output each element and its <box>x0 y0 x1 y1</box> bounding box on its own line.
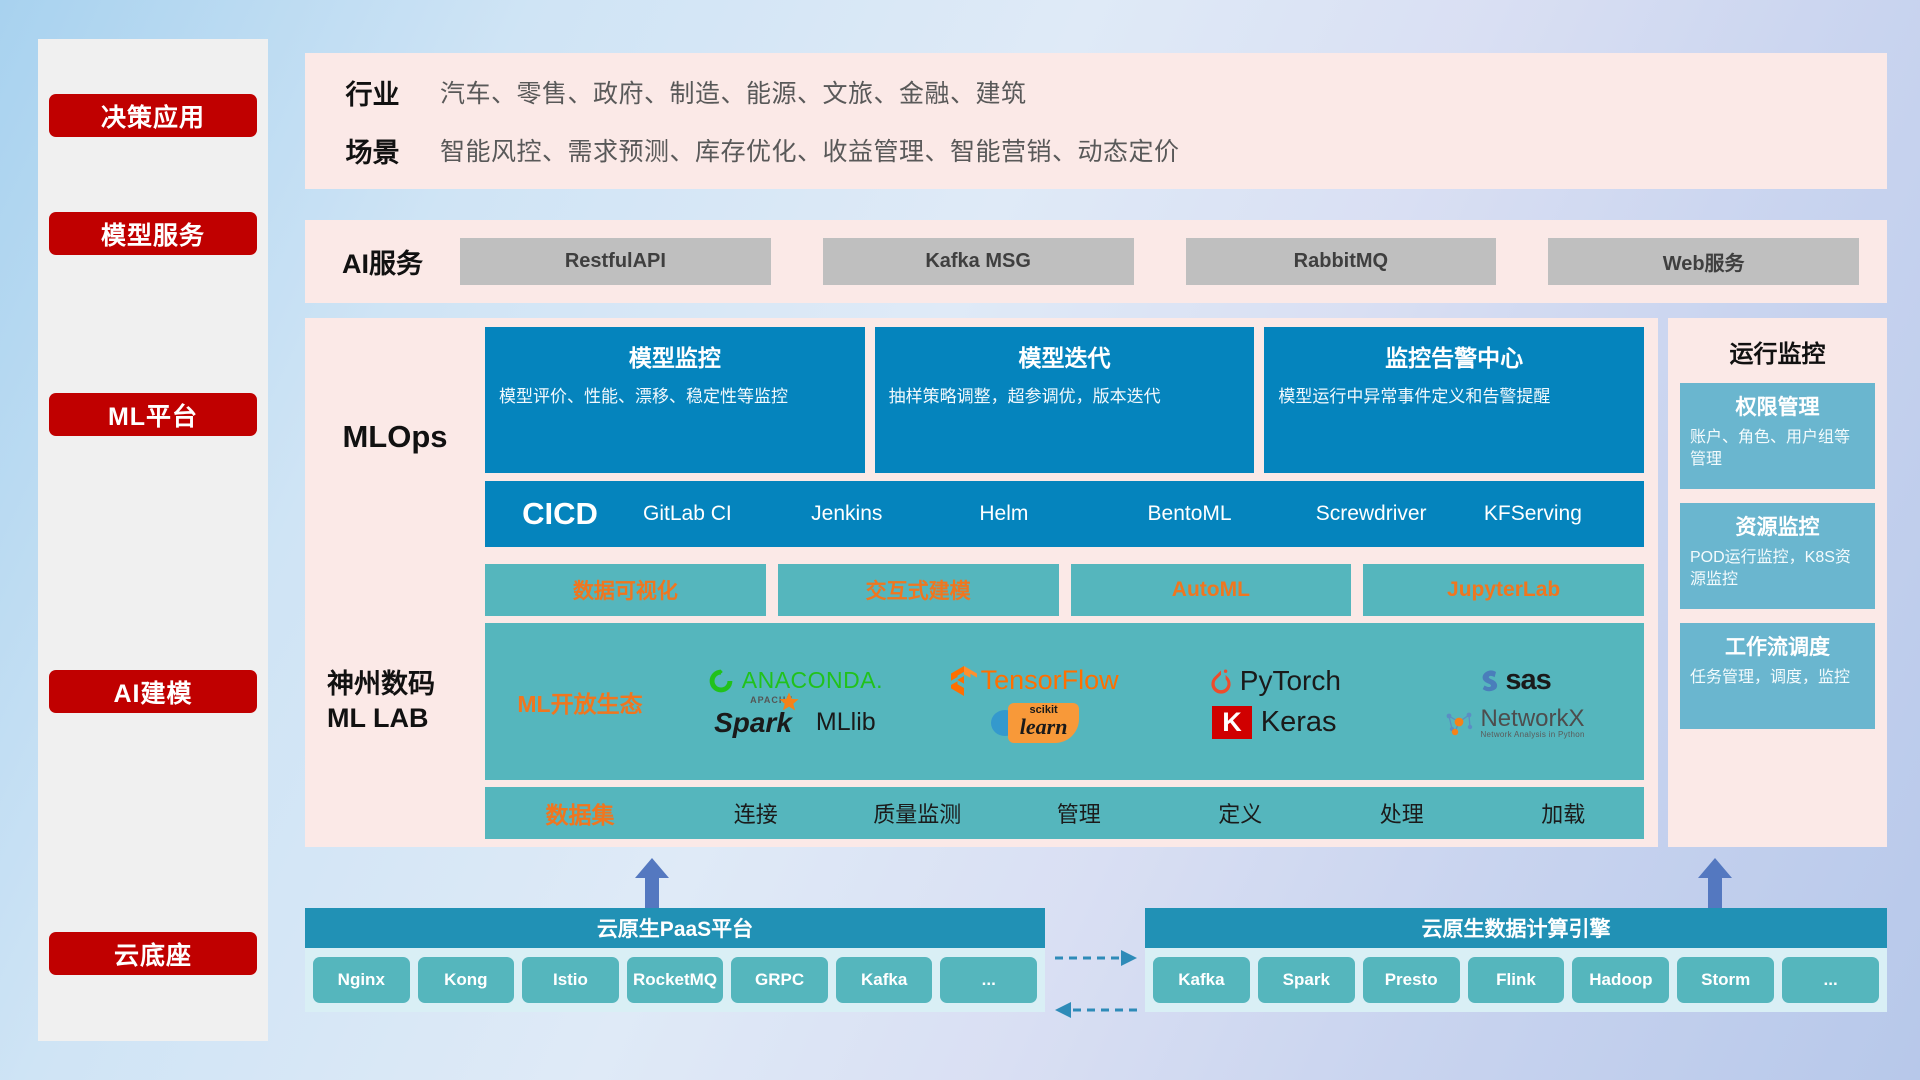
card-desc: 模型评价、性能、漂移、稳定性等监控 <box>499 385 788 410</box>
networkx-logo: NetworkX Network Analysis in Python <box>1443 707 1584 739</box>
ai-chip-restfulapi[interactable]: RestfulAPI <box>460 238 771 285</box>
engine-title: 云原生数据计算引擎 <box>1145 908 1887 948</box>
pytorch-logo: PyTorch <box>1208 665 1341 697</box>
cicd-item-screwdriver[interactable]: Screwdriver <box>1308 502 1476 526</box>
card-title: 资源监控 <box>1690 511 1865 541</box>
card-title: 权限管理 <box>1690 391 1865 421</box>
bidirectional-link-arrows <box>1053 940 1139 1028</box>
rail-chip-ai-modeling[interactable]: AI建模 <box>49 670 257 713</box>
scikit-learn-badge: scikit learn <box>1008 703 1080 743</box>
ml-lab-label: 神州数码 ML LAB <box>305 668 485 736</box>
scenario-values: 智能风控、需求预测、库存优化、收益管理、智能营销、动态定价 <box>440 132 1180 168</box>
ml-lab-panel: 神州数码 ML LAB 数据可视化 交互式建模 AutoML JupyterLa… <box>305 556 1658 847</box>
cicd-item-gitlab-ci[interactable]: GitLab CI <box>635 502 803 526</box>
cicd-item-helm[interactable]: Helm <box>971 502 1139 526</box>
anaconda-wordmark: ANACONDA. <box>742 667 883 694</box>
paas-chip-kafka[interactable]: Kafka <box>836 957 933 1003</box>
tensorflow-mark-icon <box>951 666 977 696</box>
mllib-wordmark: MLlib <box>816 708 876 737</box>
paas-chip-more[interactable]: ... <box>940 957 1037 1003</box>
cloud-base-layer: 云原生PaaS平台 Nginx Kong Istio RocketMQ GRPC… <box>305 880 1887 1058</box>
tool-chip-interactive-modeling[interactable]: 交互式建模 <box>778 564 1059 616</box>
card-desc: 模型运行中异常事件定义和告警提醒 <box>1278 385 1550 410</box>
learn-text: learn <box>1020 716 1068 738</box>
paas-chip-rocketmq[interactable]: RocketMQ <box>627 957 724 1003</box>
tool-chip-data-visualization[interactable]: 数据可视化 <box>485 564 766 616</box>
pytorch-wordmark: PyTorch <box>1240 665 1341 697</box>
dataset-item-quality[interactable]: 质量监测 <box>837 797 999 829</box>
card-title: 监控告警中心 <box>1385 339 1523 373</box>
ml-lab-label-line2: ML LAB <box>327 702 485 736</box>
paas-chip-group: Nginx Kong Istio RocketMQ GRPC Kafka ... <box>305 948 1045 1012</box>
engine-chip-storm[interactable]: Storm <box>1677 957 1774 1003</box>
anaconda-mark-icon <box>707 667 735 695</box>
mlops-card-alert-center[interactable]: 监控告警中心 模型运行中异常事件定义和告警提醒 <box>1264 327 1644 473</box>
engine-chip-kafka[interactable]: Kafka <box>1153 957 1250 1003</box>
cicd-bar: CICD GitLab CI Jenkins Helm BentoML Scre… <box>485 481 1644 547</box>
sas-mark-icon <box>1477 667 1503 695</box>
dataset-item-define[interactable]: 定义 <box>1160 797 1322 829</box>
runtime-monitoring-panel: 运行监控 权限管理 账户、角色、用户组等管理 资源监控 POD运行监控，K8S资… <box>1668 318 1887 847</box>
mlops-stack: 模型监控 模型评价、性能、漂移、稳定性等监控 模型迭代 抽样策略调整，超参调优，… <box>485 318 1658 556</box>
scenario-label: 场景 <box>305 131 440 170</box>
scikit-learn-logo: scikit learn <box>990 703 1080 743</box>
cicd-title: CICD <box>485 496 635 532</box>
tool-chip-automl[interactable]: AutoML <box>1071 564 1352 616</box>
cicd-item-jenkins[interactable]: Jenkins <box>803 502 971 526</box>
ml-lab-tool-row: 数据可视化 交互式建模 AutoML JupyterLab <box>485 564 1644 616</box>
sas-logo: sas <box>1477 664 1550 697</box>
card-title: 模型迭代 <box>1019 339 1111 373</box>
spark-mllib-logo: APACHE Spark MLlib <box>714 707 876 739</box>
engine-chip-flink[interactable]: Flink <box>1468 957 1565 1003</box>
industry-line: 行业 汽车、零售、政府、制造、能源、文旅、金融、建筑 <box>305 63 1867 121</box>
networkx-mark-icon <box>1443 708 1475 738</box>
rail-chip-cloud-base[interactable]: 云底座 <box>49 932 257 975</box>
card-title: 工作流调度 <box>1690 631 1865 661</box>
application-lines: 行业 汽车、零售、政府、制造、能源、文旅、金融、建筑 场景 智能风控、需求预测、… <box>305 63 1887 179</box>
dataset-label: 数据集 <box>485 796 675 830</box>
card-desc: 任务管理，调度，监控 <box>1690 667 1865 689</box>
ai-chip-web-service[interactable]: Web服务 <box>1548 238 1859 285</box>
cicd-item-kfserving[interactable]: KFServing <box>1476 502 1644 526</box>
engine-chip-group: Kafka Spark Presto Flink Hadoop Storm ..… <box>1145 948 1887 1012</box>
sas-wordmark: sas <box>1505 664 1550 697</box>
cloud-native-data-engine-group: 云原生数据计算引擎 Kafka Spark Presto Flink Hadoo… <box>1145 908 1887 1012</box>
monitoring-card-workflow[interactable]: 工作流调度 任务管理，调度，监控 <box>1680 623 1875 729</box>
cloud-native-paas-group: 云原生PaaS平台 Nginx Kong Istio RocketMQ GRPC… <box>305 908 1045 1012</box>
tensorflow-wordmark: TensorFlow <box>981 665 1119 696</box>
card-desc: POD运行监控，K8S资源监控 <box>1690 547 1865 592</box>
left-stage-rail: 决策应用 模型服务 ML平台 AI建模 云底座 <box>38 39 268 1041</box>
runtime-monitoring-title: 运行监控 <box>1680 334 1875 369</box>
networkx-tagline: Network Analysis in Python <box>1480 731 1584 739</box>
scenario-line: 场景 智能风控、需求预测、库存优化、收益管理、智能营销、动态定价 <box>305 121 1867 179</box>
cicd-item-bentoml[interactable]: BentoML <box>1140 502 1308 526</box>
paas-chip-grpc[interactable]: GRPC <box>731 957 828 1003</box>
paas-title: 云原生PaaS平台 <box>305 908 1045 948</box>
pytorch-mark-icon <box>1208 666 1234 696</box>
decision-applications-panel: 行业 汽车、零售、政府、制造、能源、文旅、金融、建筑 场景 智能风控、需求预测、… <box>305 53 1887 189</box>
keras-wordmark: Keras <box>1261 706 1337 739</box>
dataset-item-load[interactable]: 加载 <box>1483 797 1645 829</box>
engine-chip-hadoop[interactable]: Hadoop <box>1572 957 1669 1003</box>
ai-services-panel: AI服务 RestfulAPI Kafka MSG RabbitMQ Web服务 <box>305 220 1887 303</box>
paas-chip-istio[interactable]: Istio <box>522 957 619 1003</box>
engine-up-arrow-icon <box>1698 858 1732 910</box>
mlops-card-group: 模型监控 模型评价、性能、漂移、稳定性等监控 模型迭代 抽样策略调整，超参调优，… <box>485 327 1644 473</box>
ml-lab-label-line1: 神州数码 <box>327 668 485 702</box>
dataset-item-connect[interactable]: 连接 <box>675 797 837 829</box>
dataset-item-process[interactable]: 处理 <box>1321 797 1483 829</box>
tensorflow-logo: TensorFlow <box>951 665 1119 696</box>
card-title: 模型监控 <box>629 339 721 373</box>
rail-chip-ml-platform[interactable]: ML平台 <box>49 393 257 436</box>
rail-chip-model-service[interactable]: 模型服务 <box>49 212 257 255</box>
mlops-card-model-iteration[interactable]: 模型迭代 抽样策略调整，超参调优，版本迭代 <box>875 327 1255 473</box>
engine-chip-more[interactable]: ... <box>1782 957 1879 1003</box>
mlops-card-model-monitoring[interactable]: 模型监控 模型评价、性能、漂移、稳定性等监控 <box>485 327 865 473</box>
dataset-row: 数据集 连接 质量监测 管理 定义 处理 加载 <box>485 787 1644 839</box>
monitoring-card-resource[interactable]: 资源监控 POD运行监控，K8S资源监控 <box>1680 503 1875 609</box>
mlops-label: MLOps <box>305 419 485 455</box>
rail-chip-decision-app[interactable]: 决策应用 <box>49 94 257 137</box>
industry-label: 行业 <box>305 73 440 112</box>
paas-up-arrow-icon <box>635 858 669 910</box>
ecosystem-logo-grid: ANACONDA. TensorFlow <box>675 661 1634 743</box>
ai-services-label: AI服务 <box>305 242 460 281</box>
paas-chip-kong[interactable]: Kong <box>418 957 515 1003</box>
keras-logo: K Keras <box>1212 706 1336 739</box>
ml-lab-stack: 数据可视化 交互式建模 AutoML JupyterLab ML开放生态 <box>485 556 1658 847</box>
engine-chip-presto[interactable]: Presto <box>1363 957 1460 1003</box>
engine-chip-spark[interactable]: Spark <box>1258 957 1355 1003</box>
industry-values: 汽车、零售、政府、制造、能源、文旅、金融、建筑 <box>440 74 1027 110</box>
monitoring-card-permission[interactable]: 权限管理 账户、角色、用户组等管理 <box>1680 383 1875 489</box>
spark-star-icon <box>777 691 801 715</box>
ai-services-chip-group: RestfulAPI Kafka MSG RabbitMQ Web服务 <box>460 238 1887 285</box>
keras-mark-icon: K <box>1212 706 1252 739</box>
mlops-panel: MLOps 模型监控 模型评价、性能、漂移、稳定性等监控 模型迭代 抽样策略调整… <box>305 318 1658 556</box>
ai-chip-rabbitmq[interactable]: RabbitMQ <box>1186 238 1497 285</box>
dataset-item-manage[interactable]: 管理 <box>998 797 1160 829</box>
ai-chip-kafka-msg[interactable]: Kafka MSG <box>823 238 1134 285</box>
ml-open-ecosystem-label: ML开放生态 <box>485 685 675 719</box>
ml-open-ecosystem-row: ML开放生态 ANACONDA. <box>485 623 1644 780</box>
card-desc: 账户、角色、用户组等管理 <box>1690 427 1865 472</box>
paas-chip-nginx[interactable]: Nginx <box>313 957 410 1003</box>
card-desc: 抽样策略调整，超参调优，版本迭代 <box>889 385 1161 410</box>
networkx-wordmark: NetworkX <box>1480 707 1584 731</box>
tool-chip-jupyterlab[interactable]: JupyterLab <box>1363 564 1644 616</box>
